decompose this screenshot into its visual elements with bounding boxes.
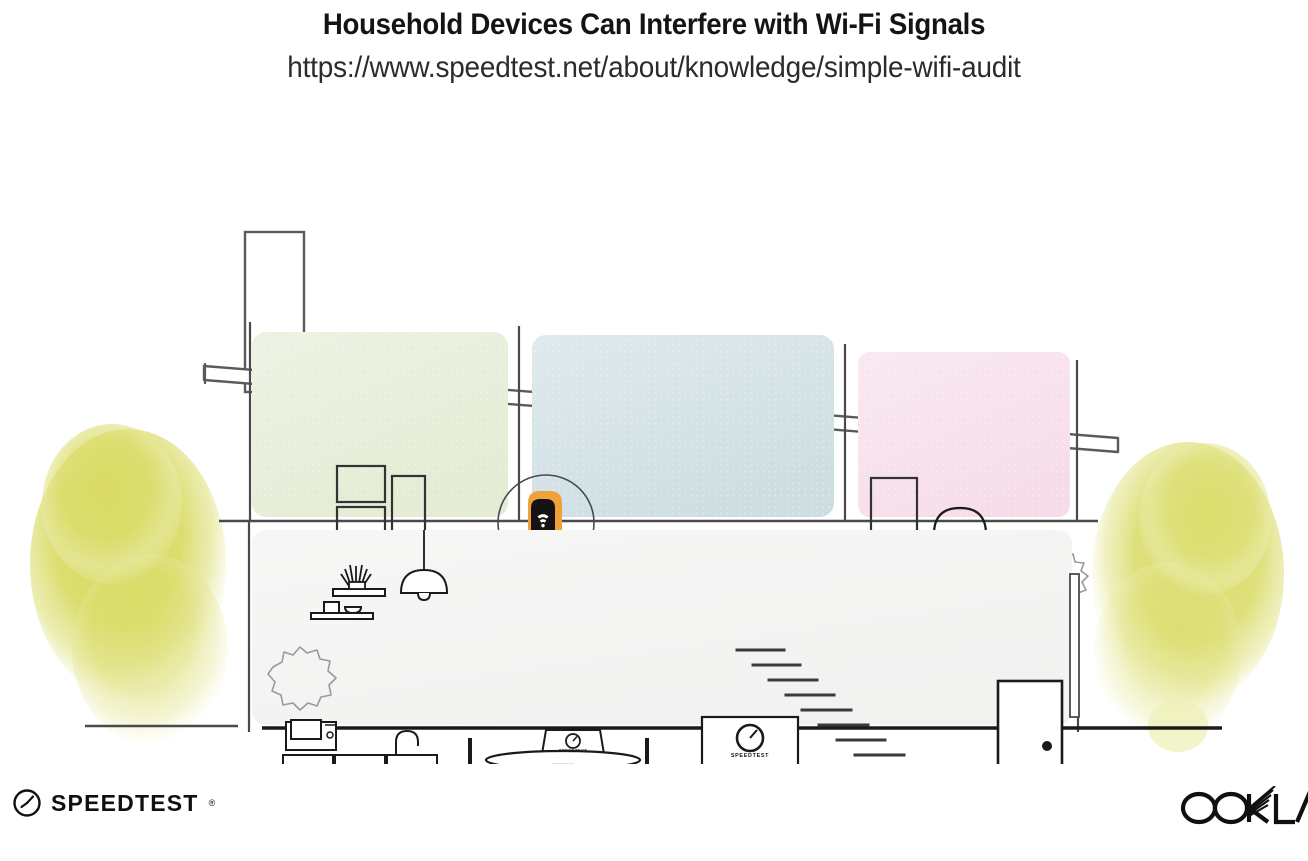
living-tv[interactable]: SPEEDTEST (702, 717, 798, 764)
tree-left (30, 424, 228, 744)
speedtest-logo[interactable]: SPEEDTEST ® (12, 788, 215, 818)
room-pink-nursery (858, 352, 1070, 517)
room-lower-level (252, 530, 1072, 725)
footer: SPEEDTEST ® (0, 766, 1308, 861)
speedtest-gauge-icon (12, 788, 42, 818)
room-green-bedroom (252, 332, 508, 517)
tree-right (1092, 442, 1284, 752)
microwave (286, 720, 336, 750)
ookla-logo[interactable]: ™ (1179, 786, 1308, 828)
infographic-page: Household Devices Can Interfere with Wi-… (0, 0, 1308, 861)
wall-post-right (1070, 574, 1079, 717)
page-title: Household Devices Can Interfere with Wi-… (52, 0, 1255, 42)
header: Household Devices Can Interfere with Wi-… (0, 0, 1308, 85)
source-url: https://www.speedtest.net/about/knowledg… (46, 42, 1262, 85)
room-blue-bedroom (532, 335, 834, 517)
front-door[interactable] (998, 681, 1062, 764)
ookla-wordmark-icon: ™ (1179, 786, 1308, 828)
house-illustration: SPEEDTEST (0, 104, 1308, 764)
kitchen-counters (283, 755, 437, 764)
door-knob-icon[interactable] (1042, 741, 1052, 751)
living-tv-screen-text: SPEEDTEST (731, 753, 769, 759)
speedtest-wordmark: SPEEDTEST (51, 790, 199, 817)
dining-table (486, 751, 640, 764)
wifi-router[interactable] (528, 491, 562, 536)
kitchen-faucet-icon (396, 731, 418, 755)
speedtest-trademark: ® (209, 798, 216, 808)
